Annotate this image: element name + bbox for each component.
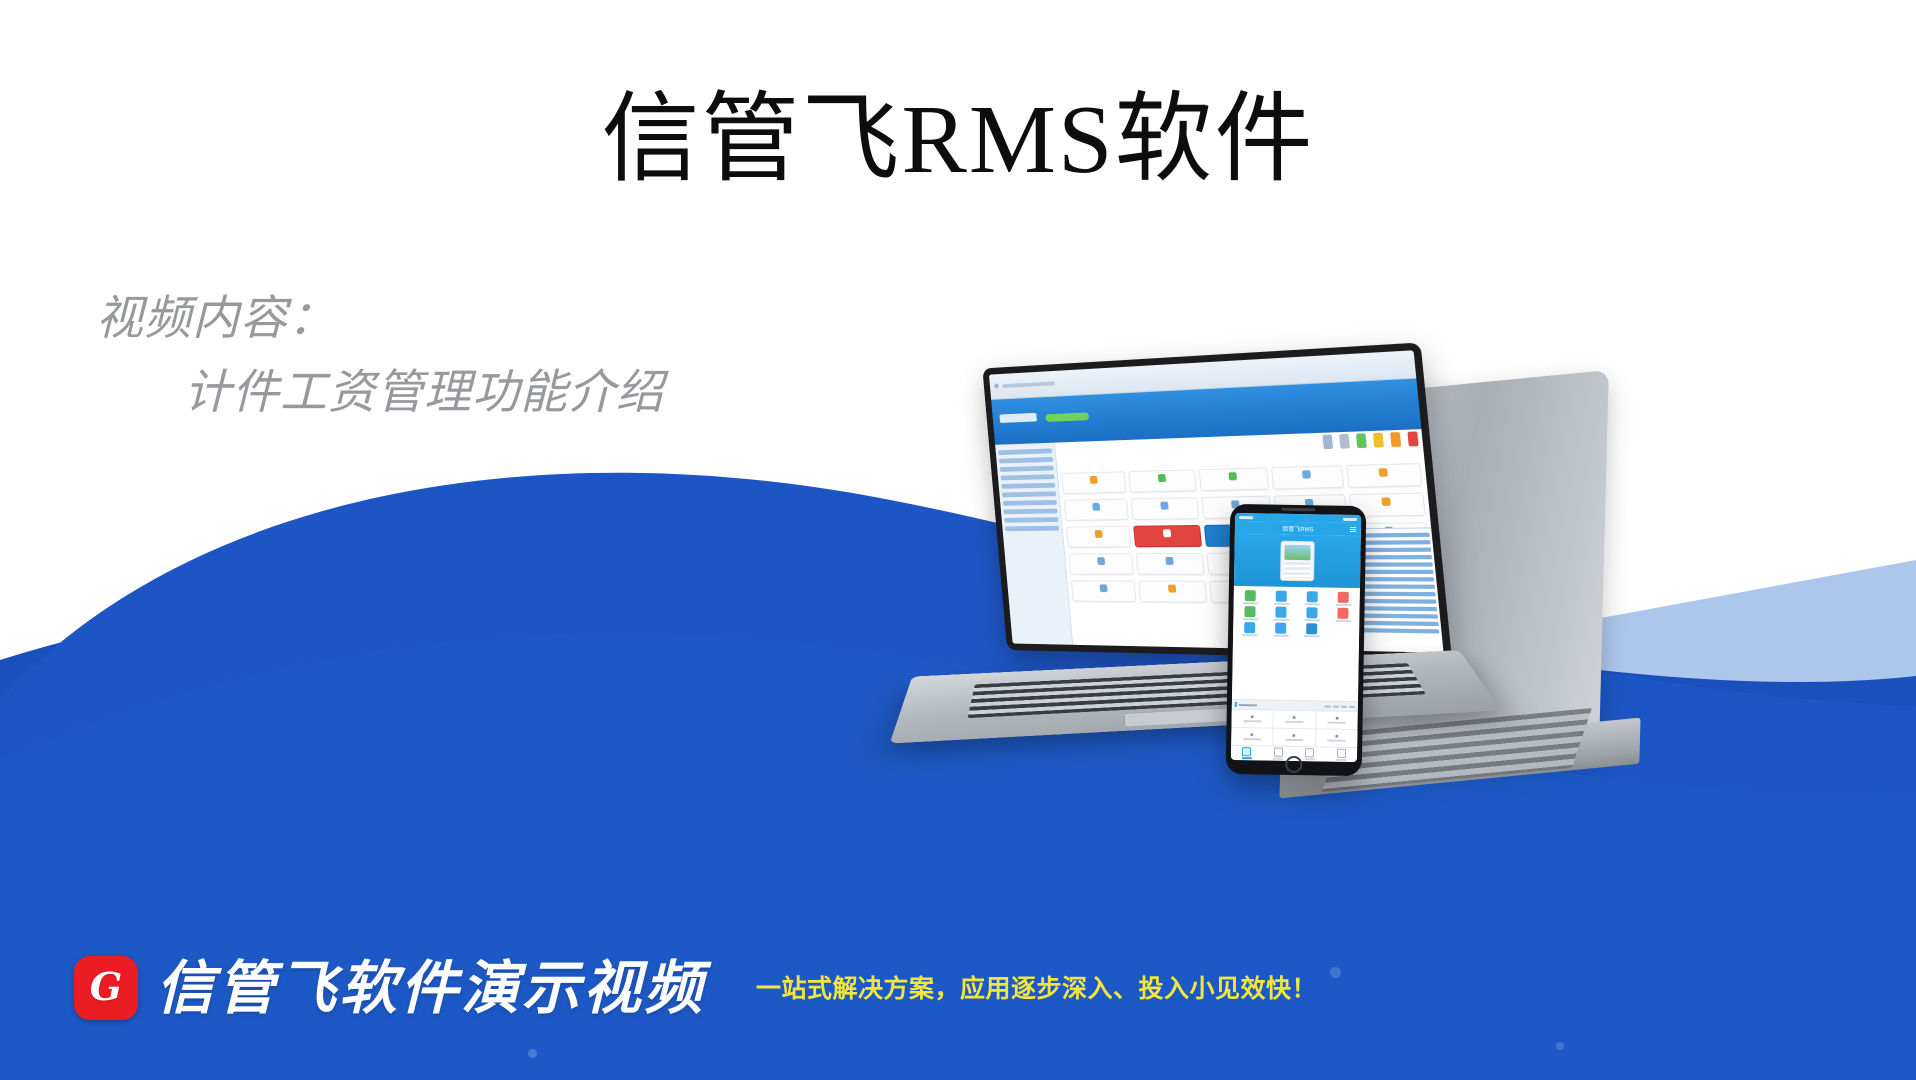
sidebar-item (1004, 517, 1059, 523)
nav-label (1242, 757, 1252, 759)
hero-image (1284, 545, 1310, 560)
phone-hero-banner (1234, 534, 1361, 588)
phone-grid-item (1235, 622, 1264, 637)
stat-cell (1316, 711, 1358, 729)
brand-logo-glyph: G (74, 956, 138, 1020)
brand-lockup: G 信管飞软件演示视频 (74, 956, 705, 1020)
sidebar-item (1005, 526, 1060, 531)
grid-label (1273, 635, 1289, 637)
hamburger-icon (1350, 527, 1356, 532)
stat-label (1286, 721, 1304, 723)
tab[interactable] (1349, 705, 1355, 707)
toolbar-icon (1322, 435, 1333, 450)
grid-label (1273, 603, 1289, 605)
phone-grid-item (1235, 606, 1264, 621)
stat-cell (1231, 728, 1273, 746)
section-tabs (1325, 705, 1355, 708)
phone-app-title: 信管飞RMS (1282, 524, 1313, 534)
app-badge (1045, 413, 1089, 423)
grid-label (1304, 603, 1320, 605)
app-grid-icon (1069, 554, 1135, 576)
stat-label (1328, 722, 1346, 724)
app-grid-icon (1062, 472, 1127, 495)
app-grid-icon (1071, 581, 1137, 603)
grid-icon-more (1306, 623, 1317, 634)
phone-stats-grid (1231, 710, 1358, 747)
grid-label (1242, 618, 1258, 620)
laptop-lid (982, 342, 1452, 660)
grid-icon-blue (1276, 591, 1287, 602)
app-grid-icon (1131, 497, 1199, 520)
subtitle-line-1: 视频内容： (96, 282, 664, 356)
sidebar-item (1000, 475, 1054, 481)
app-grid-icon (1136, 553, 1204, 575)
slide-root: 信管飞RMS软件 视频内容： 计件工资管理功能介绍 (0, 0, 1916, 1080)
subtitle-block: 视频内容： 计件工资管理功能介绍 (96, 282, 664, 430)
grid-icon-blue (1275, 607, 1286, 618)
toolbar-icon (1390, 432, 1401, 447)
toolbar-icon (1407, 432, 1418, 447)
app-grid-icon (1066, 526, 1131, 548)
nav-label (1273, 758, 1283, 760)
decorative-dot-icon (1556, 1042, 1564, 1050)
phone-hero-device-illustration (1280, 541, 1315, 582)
titlebar-menu-strip (1002, 381, 1055, 388)
laptop-front (880, 355, 1520, 955)
sidebar-item (1003, 509, 1058, 515)
phone-grid-item (1297, 607, 1326, 622)
chart-icon (1305, 748, 1314, 757)
app-logo-icon (999, 413, 1037, 423)
grid-icon-blue (1306, 607, 1317, 618)
grid-icon-green (1244, 606, 1255, 617)
sidebar-item (1003, 500, 1058, 506)
grid-label (1335, 620, 1351, 622)
stat-icon (1335, 717, 1338, 720)
phone-grid-item (1328, 608, 1357, 623)
grid-label (1242, 634, 1258, 636)
stat-label (1328, 740, 1346, 742)
sidebar-item (1002, 492, 1057, 498)
grid-label (1304, 635, 1320, 637)
app-grid-icon (1064, 499, 1129, 521)
app-grid-icon (1198, 468, 1269, 492)
phone-grid-item (1298, 591, 1327, 606)
phone-grid-item (1297, 623, 1326, 638)
app-grid-icon (1346, 463, 1422, 488)
phone-speaker-icon (1281, 508, 1315, 512)
status-left-icon (1239, 515, 1253, 518)
toolbar-icon (1356, 434, 1367, 449)
phone-grid-item (1266, 606, 1295, 621)
stat-label (1243, 738, 1261, 740)
stat-cell (1231, 710, 1273, 728)
app-grid-icon (1134, 525, 1202, 547)
phone-grid-item (1236, 590, 1265, 605)
app-grid-icon (1139, 581, 1207, 603)
home-icon (1242, 747, 1251, 756)
documents-icon (1274, 748, 1283, 757)
app-grid-icon (1271, 466, 1344, 490)
tab[interactable] (1325, 705, 1331, 707)
section-title (1239, 704, 1257, 706)
toolbar-icon (1373, 433, 1384, 448)
person-icon (1337, 749, 1346, 758)
phone-grid-item (1267, 590, 1296, 605)
stat-icon (1251, 715, 1254, 718)
brand-title: 信管飞软件演示视频 (156, 957, 705, 1019)
tab[interactable] (1333, 705, 1339, 707)
grid-label (1335, 604, 1351, 606)
grid-icon-blue (1275, 623, 1286, 634)
status-right-icon (1343, 517, 1357, 520)
phone-grid-item (1266, 622, 1295, 637)
grid-icon-green (1245, 590, 1256, 601)
stat-icon (1335, 735, 1338, 738)
nav-label (1336, 759, 1346, 761)
grid-icon-blue (1244, 622, 1255, 633)
brand-tagline: 一站式解决方案，应用逐步深入、投入小见效快！ (756, 974, 1317, 1004)
page-title: 信管飞RMS软件 (0, 80, 1916, 200)
nav-label (1305, 758, 1315, 760)
phone-screen: 信管飞RMS (1231, 513, 1361, 762)
laptop-screen (989, 350, 1444, 653)
stat-icon (1250, 733, 1253, 736)
hero-rows (1284, 562, 1310, 578)
phone-grid-item (1329, 592, 1358, 607)
sidebar-item (998, 449, 1052, 456)
decorative-dot-icon (1330, 967, 1341, 978)
phone-grid-item-empty (1328, 624, 1357, 639)
nav-item-home[interactable] (1231, 746, 1263, 761)
stat-label (1285, 739, 1303, 741)
grid-icon-blue (1307, 591, 1318, 602)
tab[interactable] (1341, 705, 1347, 707)
phone-home-button[interactable] (1285, 756, 1302, 773)
stat-label (1243, 720, 1261, 722)
subtitle-line-2: 计件工资管理功能介绍 (96, 356, 664, 430)
decorative-dot-icon (528, 1049, 537, 1058)
app-body (995, 429, 1443, 652)
grid-label (1273, 619, 1289, 621)
nav-item-profile[interactable] (1325, 748, 1357, 763)
grid-label (1304, 619, 1320, 621)
stat-cell (1273, 729, 1315, 747)
stat-icon (1293, 734, 1296, 737)
toolbar-icon (1339, 434, 1350, 449)
app-grid-icon (1129, 470, 1197, 493)
titlebar-dot-icon (994, 384, 999, 389)
phone-icon-grid (1232, 586, 1360, 701)
sidebar-item (1000, 466, 1054, 472)
devices-illustration: 信管飞RMS (880, 385, 1916, 945)
grid-icon-red (1338, 592, 1349, 603)
sidebar-item (1001, 483, 1055, 489)
laptop-base (890, 650, 1502, 743)
stat-icon (1293, 716, 1296, 719)
sidebar-item (999, 457, 1053, 463)
grid-icon-red (1337, 608, 1348, 619)
stat-cell (1316, 729, 1358, 747)
brand-logo-icon: G (74, 956, 138, 1020)
grid-label (1242, 602, 1258, 604)
stat-cell (1274, 711, 1316, 729)
section-accent-bar (1235, 702, 1237, 707)
smartphone: 信管飞RMS (1226, 504, 1367, 776)
app-toolbar (1322, 432, 1418, 450)
